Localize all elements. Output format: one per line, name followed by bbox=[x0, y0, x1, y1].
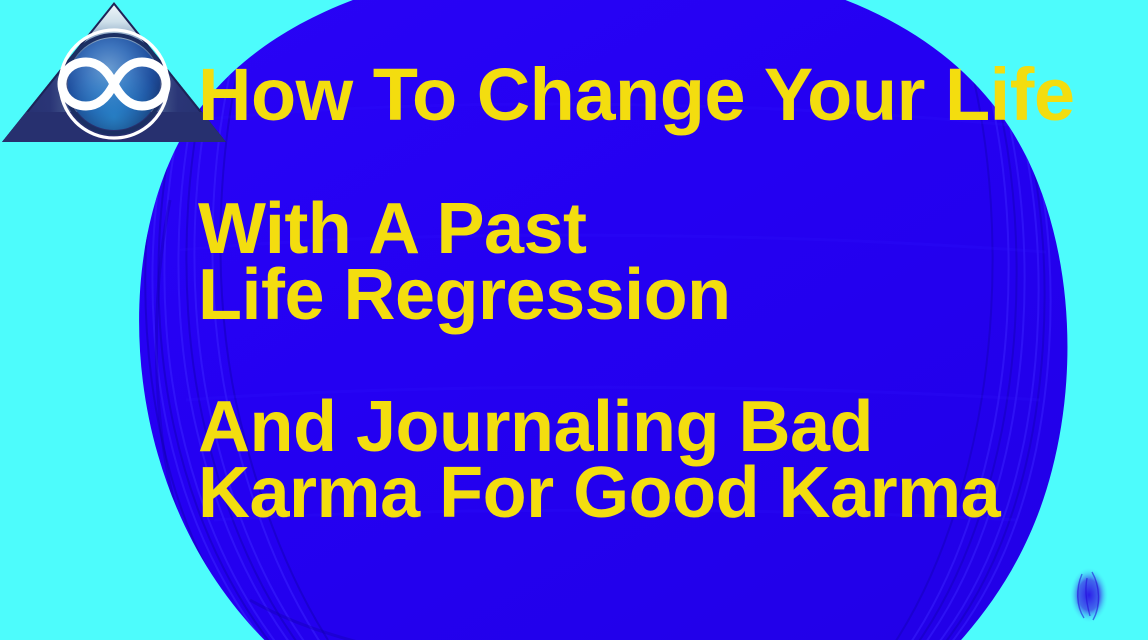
headline-line-1: How To Change Your Life bbox=[198, 58, 1075, 132]
headline-block-3: And Journaling Bad Karma For Good Karma bbox=[198, 391, 1000, 523]
headline-block-2-line-1: With A Past bbox=[198, 193, 731, 259]
headline-block-3-line-1: And Journaling Bad bbox=[198, 391, 1000, 457]
headline-block-2-line-2: Life Regression bbox=[198, 259, 731, 325]
slide-canvas: How To Change Your Life With A Past Life… bbox=[0, 0, 1148, 640]
infinity-triangle-logo bbox=[0, 0, 228, 146]
headline-block-3-line-2: Karma For Good Karma bbox=[198, 457, 1000, 523]
headline-block-2: With A Past Life Regression bbox=[198, 193, 731, 325]
